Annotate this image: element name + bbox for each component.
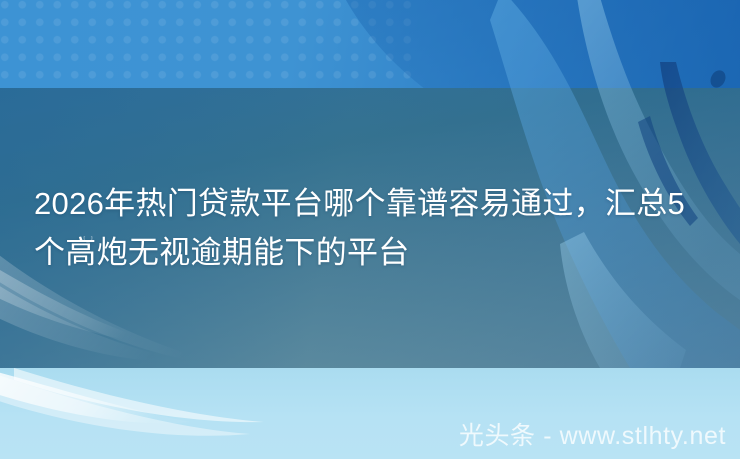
- promo-banner: 2026年热门贷款平台哪个靠谱容易通过，汇总5个高炮无视逾期能下的平台 光头条 …: [0, 0, 740, 459]
- banner-headline: 2026年热门贷款平台哪个靠谱容易通过，汇总5个高炮无视逾期能下的平台: [0, 179, 740, 277]
- background-band-top: [0, 0, 740, 88]
- site-watermark: 光头条 - www.stlhty.net: [459, 419, 726, 453]
